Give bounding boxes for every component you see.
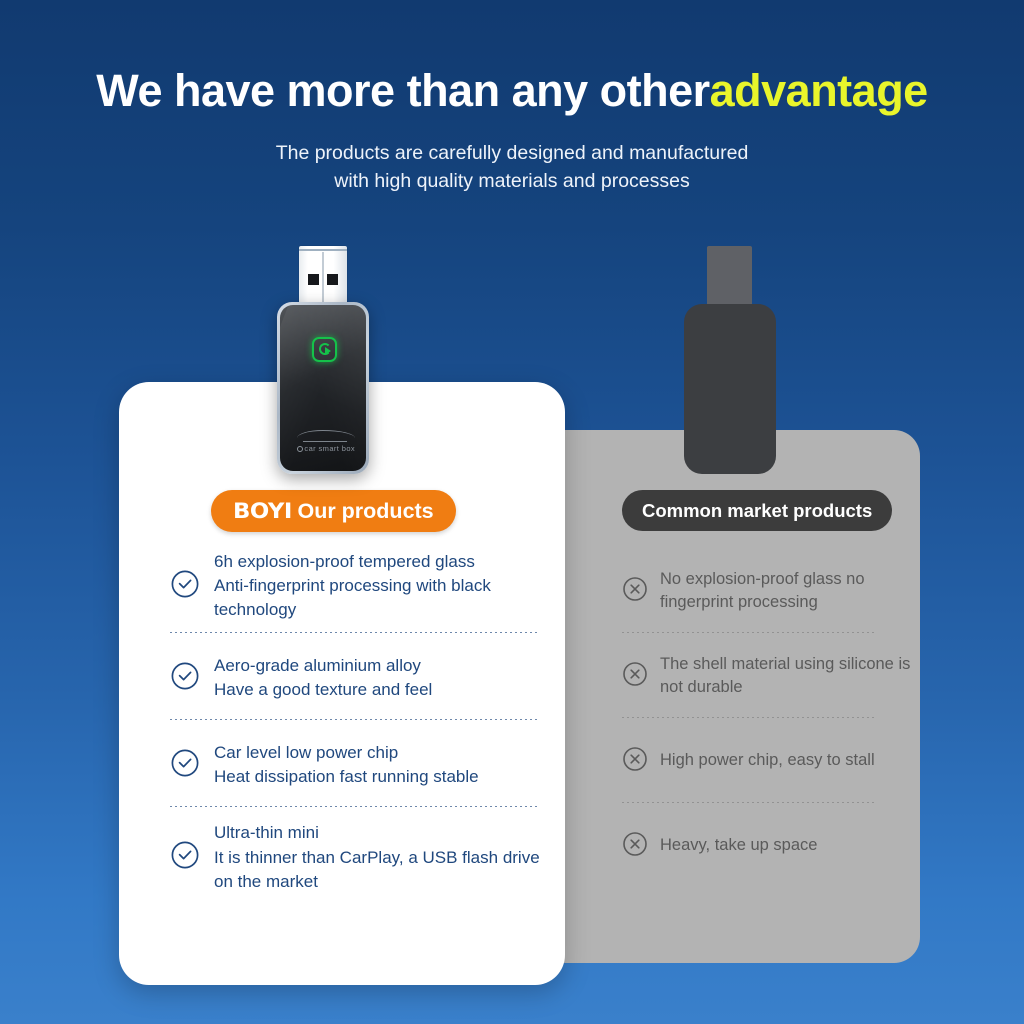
list-item-text: The shell material using silicone is not… (660, 653, 922, 700)
infographic-page: We have more than any otheradvantage The… (0, 0, 1024, 1024)
list-item-line-2: Have a good texture and feel (214, 680, 432, 699)
boyi-brand-logo-text: BOYI (233, 499, 292, 524)
list-item-text: Heavy, take up space (660, 834, 817, 857)
x-circle-icon (622, 576, 648, 607)
boyi-products-badge-label: Our products (297, 499, 433, 524)
common-products-badge: Common market products (622, 490, 892, 531)
page-subtitle: The products are carefully designed and … (0, 139, 1024, 196)
x-circle-icon (622, 831, 648, 862)
separator (170, 806, 540, 807)
common-products-badge-label: Common market products (642, 500, 872, 522)
separator (622, 632, 874, 633)
list-item-text: Aero-grade aluminium alloyHave a good te… (214, 654, 432, 702)
x-circle-icon (622, 661, 648, 692)
boyi-product-body: car smart box (277, 302, 369, 474)
boyi-product-glass-face: car smart box (280, 305, 366, 471)
list-item-line-1: Car level low power chip (214, 743, 398, 762)
car-silhouette-icon (297, 430, 355, 443)
usb-contact-slot (308, 274, 319, 285)
list-item-line-1: Ultra-thin mini (214, 823, 319, 842)
list-item-text: 6h explosion-proof tempered glassAnti-fi… (214, 550, 540, 622)
wordmark-text: car smart box (288, 444, 364, 453)
list-item-line-2: It is thinner than CarPlay, a USB flash … (214, 848, 540, 891)
list-item: Ultra-thin miniIt is thinner than CarPla… (170, 821, 540, 893)
list-item: The shell material using silicone is not… (622, 647, 922, 705)
list-item-line-1: 6h explosion-proof tempered glass (214, 552, 475, 571)
list-item-text: No explosion-proof glass no fingerprint … (660, 568, 922, 615)
headline-main-text: We have more than any other (96, 65, 709, 116)
check-circle-icon (170, 840, 200, 875)
x-circle-icon (622, 746, 648, 777)
subtitle-line-1: The products are carefully designed and … (0, 139, 1024, 167)
boyi-product-wordmark: car smart box (288, 430, 364, 453)
separator (622, 802, 874, 803)
headline-accent-text: advantage (710, 65, 928, 116)
list-item: Aero-grade aluminium alloyHave a good te… (170, 647, 540, 709)
logo-play-shape (325, 347, 331, 355)
list-item-text: Ultra-thin miniIt is thinner than CarPla… (214, 821, 540, 893)
list-item-line-2: Anti-fingerprint processing with black t… (214, 576, 491, 619)
boyi-products-feature-list: 6h explosion-proof tempered glassAnti-fi… (170, 550, 540, 894)
usb-contact-slot (327, 274, 338, 285)
check-circle-icon (170, 661, 200, 696)
common-product-image (684, 246, 776, 474)
list-item-text: Car level low power chipHeat dissipation… (214, 741, 479, 789)
common-products-feature-list: No explosion-proof glass no fingerprint … (622, 562, 922, 875)
list-item-line-2: Heat dissipation fast running stable (214, 767, 479, 786)
separator (170, 719, 540, 720)
list-item: High power chip, easy to stall (622, 732, 922, 790)
green-c-logo-icon (312, 337, 337, 362)
circle-c-icon (297, 446, 303, 452)
common-product-body (684, 304, 776, 474)
check-circle-icon (170, 569, 200, 604)
page-title: We have more than any otheradvantage (0, 68, 1024, 113)
boyi-products-badge: BOYI Our products (211, 490, 456, 532)
list-item: Car level low power chipHeat dissipation… (170, 734, 540, 796)
subtitle-line-2: with high quality materials and processe… (0, 167, 1024, 195)
list-item: Heavy, take up space (622, 817, 922, 875)
separator (170, 632, 540, 633)
list-item: 6h explosion-proof tempered glassAnti-fi… (170, 550, 540, 622)
wordmark-label: car smart box (304, 444, 355, 453)
list-item: No explosion-proof glass no fingerprint … (622, 562, 922, 620)
separator (622, 717, 874, 718)
list-item-line-1: Aero-grade aluminium alloy (214, 656, 421, 675)
header: We have more than any otheradvantage The… (0, 0, 1024, 196)
boyi-product-image: car smart box (277, 246, 369, 474)
check-circle-icon (170, 748, 200, 783)
list-item-text: High power chip, easy to stall (660, 749, 875, 772)
